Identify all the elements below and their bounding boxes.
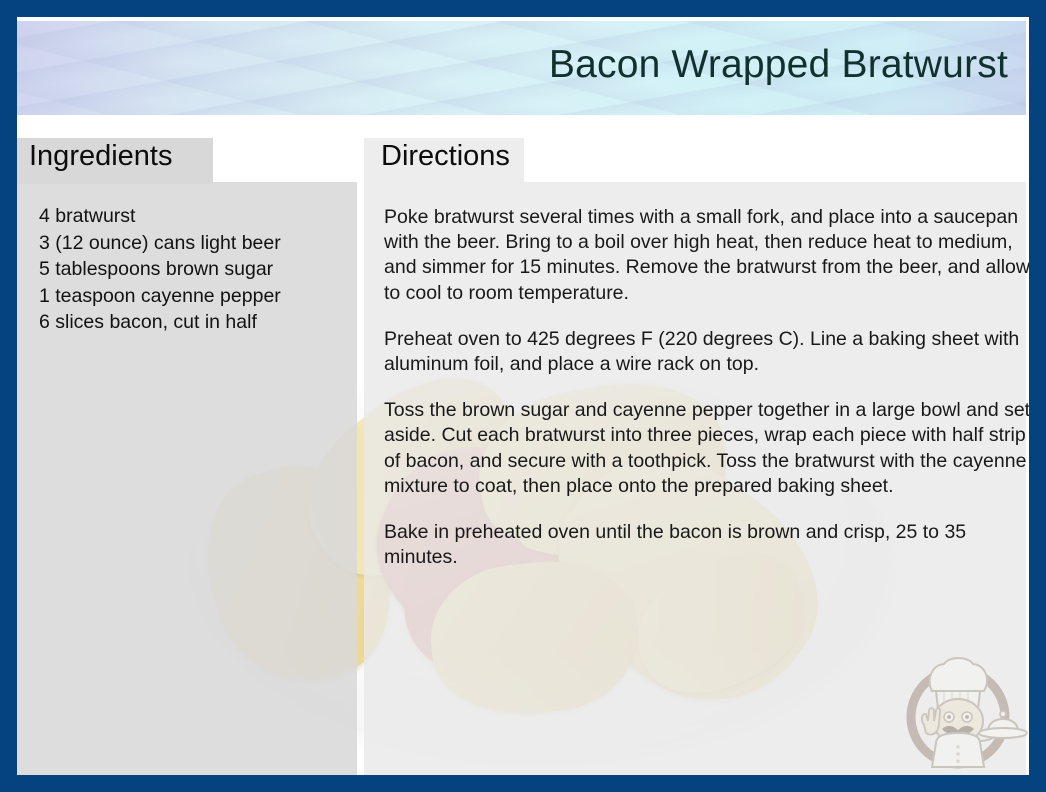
list-item: 1 teaspoon cayenne pepper [39,283,339,310]
directions-text: Poke bratwurst several times with a smal… [384,205,1029,570]
slide-content-area: Bacon Wrapped Bratwurst Ingredients Dire… [17,17,1029,775]
ingredients-list: 4 bratwurst 3 (12 ounce) cans light beer… [39,203,339,336]
list-item: 3 (12 ounce) cans light beer [39,230,339,257]
list-item: 5 tablespoons brown sugar [39,256,339,283]
recipe-slide: Bacon Wrapped Bratwurst Ingredients Dire… [0,0,1046,792]
directions-heading: Directions [381,140,510,173]
direction-paragraph: Poke bratwurst several times with a smal… [384,205,1029,306]
chef-mascot-logo [896,651,1029,775]
list-item: 4 bratwurst [39,203,339,230]
title-banner: Bacon Wrapped Bratwurst [17,21,1026,115]
ingredients-heading-tab: Ingredients [17,138,213,184]
list-item: 6 slices bacon, cut in half [39,309,339,336]
directions-heading-tab: Directions [364,138,524,184]
direction-paragraph: Toss the brown sugar and cayenne pepper … [384,398,1029,499]
direction-paragraph: Preheat oven to 425 degrees F (220 degre… [384,327,1029,377]
direction-paragraph: Bake in preheated oven until the bacon i… [384,520,1029,570]
page-title: Bacon Wrapped Bratwurst [549,43,1008,87]
ingredients-heading: Ingredients [29,140,173,173]
